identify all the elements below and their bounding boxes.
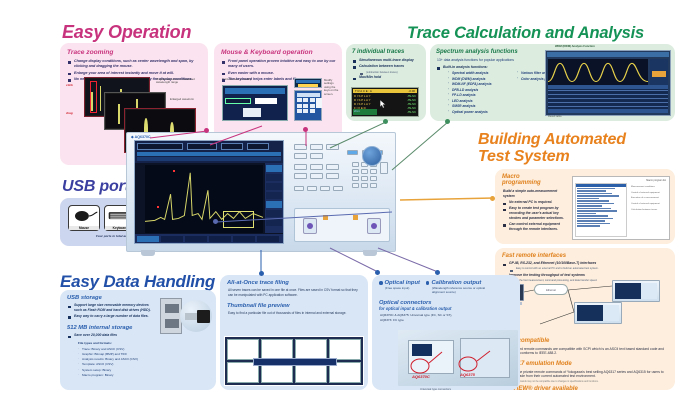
on-screen-keypad xyxy=(294,90,322,121)
file-types-list: Trace: Binary and ASCII (CSV) Graphic: B… xyxy=(78,347,138,378)
list-item: Analysis results: Binary and ASCII (CSV) xyxy=(78,357,138,362)
list-item: No external PC is required. xyxy=(503,200,571,205)
callout-dot xyxy=(303,127,308,132)
list-item: Even easier with a mouse. xyxy=(222,71,337,76)
mouse-icon xyxy=(69,206,101,226)
list-item: Simultaneous multi-trace display xyxy=(353,58,422,63)
list-item-note: Easy to control with an external PC and … xyxy=(510,267,667,271)
thumbnail-preview-screenshot xyxy=(224,336,364,386)
bullet-dot-optical-input xyxy=(379,281,383,285)
list-item: Max/Min hold xyxy=(353,75,422,80)
list-item: Macro program: Binary xyxy=(78,373,138,378)
list-item: Front panel operation proven intuitive a… xyxy=(222,59,337,70)
callout-dot xyxy=(383,119,388,124)
code-caption: Macro program list xyxy=(646,179,666,182)
lcd-footer: 2nm xyxy=(353,109,377,115)
section-title-trace-calculation: Trace Calculation and Analysis xyxy=(407,24,644,43)
list-item: Change display conditions, such as cente… xyxy=(68,59,203,70)
bullet-dot-calibration-output xyxy=(426,281,430,285)
section-title-easy-operation: Easy Operation xyxy=(62,22,191,43)
callout-dot xyxy=(435,270,440,275)
card-heading-all-at-once: All-at-Once trace filing xyxy=(227,280,368,286)
macro-lead: Build a simple auto-measurement system xyxy=(503,189,567,199)
list-item: System setup: Binary xyxy=(78,368,138,373)
list-item: LED analysis xyxy=(448,99,506,104)
brand-mark: ◆ AQ6370C xyxy=(131,135,151,139)
list-item: WDM (DWM) analysis xyxy=(448,77,506,82)
cursor-icon xyxy=(380,95,386,103)
caption-result-table: Result table xyxy=(548,115,562,118)
label-click: click xyxy=(66,83,73,87)
list-item: FP-LD analysis xyxy=(448,93,506,98)
all-at-once-body: All seven traces can be saved in one fil… xyxy=(228,288,360,297)
label-enlarged-waveform: Enlarged waveform xyxy=(170,98,200,101)
code-annotations: Measurement conditions Control of extern… xyxy=(631,185,660,214)
list-item-subnote: (subtraction between traces) xyxy=(360,71,422,75)
emulation-body: Supports the private remote commands of … xyxy=(503,370,667,380)
rotary-knob[interactable] xyxy=(362,146,382,166)
list-item: GP-IB, RS-232, and Ethernet (10/100Base-… xyxy=(503,261,667,266)
usb-icon-label: Mouse xyxy=(69,226,99,230)
label-modify-settings: Modify settings using the keys on the sc… xyxy=(324,79,340,96)
callout-dot xyxy=(213,219,218,224)
list-item: Easy to create test program by recording… xyxy=(503,206,571,220)
callout-dot xyxy=(204,128,209,133)
screenshot-macro-program-list: Macro program list xyxy=(572,176,670,240)
bullet-list-macro: No external PC is required. Easy to crea… xyxy=(503,200,571,231)
list-item: Trace: Binary and ASCII (CSV) xyxy=(78,347,138,352)
keyboard-operation-illustration: Point the item to modify Modify settings… xyxy=(222,78,338,128)
screenshot-wdm-analysis xyxy=(545,50,671,116)
heading-line2: programming xyxy=(502,180,541,186)
trace-menu-lcd: T R A C E : A -0.00 D I S P L A Y/BLNK D… xyxy=(351,87,419,117)
section-title-line2: Test System xyxy=(478,148,626,165)
list-item: Template: ASCII (CSV) xyxy=(78,362,138,367)
list-item: Support large size removable memory devi… xyxy=(68,303,156,313)
bullet-list-usb-storage: Support large size removable memory devi… xyxy=(68,303,156,319)
label-drag: drag xyxy=(66,111,73,115)
card-heading-trace-zooming: Trace zooming xyxy=(67,49,208,56)
file-types-label: File types and formats: xyxy=(78,341,138,346)
callout-dot xyxy=(259,271,264,276)
lcd-row-right: /BLNK xyxy=(408,110,416,114)
caption-universal-type-connectors: Universal type connectors xyxy=(420,388,451,391)
osa-waveform-plot xyxy=(145,165,263,233)
usb-stick-photo xyxy=(160,296,212,336)
thumbnail-cell xyxy=(295,339,327,360)
card-heading-thumbnail-preview: Thumbnail file preview xyxy=(227,303,368,309)
card-heading-seven-traces: 7 individual traces xyxy=(352,49,426,55)
subheading-optical-connectors: for optical input & calibration output xyxy=(379,306,520,311)
list-item: DFB-LD analysis xyxy=(448,88,506,93)
scpi-body: The standard remote commands are compati… xyxy=(503,347,667,357)
list-item: Easy way to carry a large number of data… xyxy=(68,314,156,319)
thumbnail-cell xyxy=(261,339,293,360)
list-item: Optical power analysis xyxy=(448,110,506,115)
usb-device-mouse: Mouse xyxy=(68,205,100,231)
optical-ports-bay xyxy=(294,208,390,242)
osa-status-bar xyxy=(135,141,283,163)
callout-dot xyxy=(490,196,495,201)
list-item: Graphic: Bitmap (BMP) and TIFF xyxy=(78,352,138,357)
subheading-calibration-output: (Wavelength reference source or optical … xyxy=(432,286,490,294)
card-heading-aq6317-emulation: AQ6317 emulation Mode xyxy=(502,361,675,367)
screenshot-label-entry xyxy=(222,85,288,121)
list-item: WDM-NF (EDFA) analysis xyxy=(448,82,506,87)
list-item: SMSR analysis xyxy=(448,104,506,109)
photo-label-aq6375: AQ6375 xyxy=(460,372,475,377)
remote-network-diagram: Ethernet xyxy=(500,278,670,330)
brochure-page: Easy Operation Trace zooming Change disp… xyxy=(0,0,680,417)
analysis-list-left: Spectral width analysis WDM (DWM) analys… xyxy=(448,71,506,115)
file-types-block: File types and formats: Trace: Binary an… xyxy=(78,341,138,378)
diagram-connector-lines xyxy=(500,278,670,330)
lcd-row-right: -0.00 xyxy=(408,89,415,93)
thumbnail-preview-body: Easy to find a particular file out of th… xyxy=(228,311,360,316)
lcd-row-selected: T R A C E : A -0.00 xyxy=(353,89,417,93)
list-item: Improve the testing throughput of test s… xyxy=(503,273,667,278)
heading-line1: Macro xyxy=(502,174,520,180)
card-fast-remote-interfaces: Fast remote interfaces GP-IB, RS-232, an… xyxy=(495,248,675,390)
optical-connector-photo: AQ6370C AQ6375 xyxy=(398,330,518,386)
section-title-easy-data-handling: Easy Data Handling xyxy=(60,272,215,292)
osa-bottom-bar xyxy=(135,234,283,243)
lcd-row-left: T R A C E : A xyxy=(355,89,372,93)
list-item: Can control external equipment through t… xyxy=(503,222,571,232)
card-heading-remote-interfaces: Fast remote interfaces xyxy=(502,253,675,259)
osa-display-screen xyxy=(134,140,284,244)
section-title-building-automated: Building Automated Test System xyxy=(478,131,626,166)
caption-wdm-analysis: WDM (DWM) Analysis Function xyxy=(555,45,595,48)
labview-driver-text: LabVIEW® driver available xyxy=(502,386,675,392)
photo-label-aq6370c: AQ6370C xyxy=(412,374,430,379)
callout-dot xyxy=(445,119,450,124)
list-item: Spectral width analysis xyxy=(448,71,506,76)
annotation: Calculation between traces xyxy=(631,208,660,214)
label-original-waveform: Original waveform in measured wavelength… xyxy=(156,78,200,85)
subheading-optical-input: (Free space input) xyxy=(385,286,420,290)
emulation-footnote: Note: some commands may not be compatibl… xyxy=(503,381,667,383)
screenshot-value-readout xyxy=(294,78,322,88)
thumbnail-tooltip xyxy=(253,358,337,366)
card-heading-mouse-keyboard: Mouse & Keyboard operation xyxy=(221,49,342,56)
drag-selection-rect xyxy=(90,81,97,113)
osa-softkey-menu xyxy=(265,163,283,233)
list-item: Calculation between traces xyxy=(353,64,422,69)
section-title-line1: Building Automated xyxy=(478,131,626,148)
connector-line: AQ6373: FC type xyxy=(380,318,520,323)
card-heading-scpi: SCPI compatible xyxy=(502,338,675,344)
bullet-list-seven-traces: Simultaneous multi-trace display Calcula… xyxy=(353,58,422,80)
callout-dot xyxy=(375,270,380,275)
thumbnail-cell xyxy=(329,339,361,360)
thumbnail-cell xyxy=(227,339,259,360)
label-point-item: Point the item to modify xyxy=(222,78,251,81)
